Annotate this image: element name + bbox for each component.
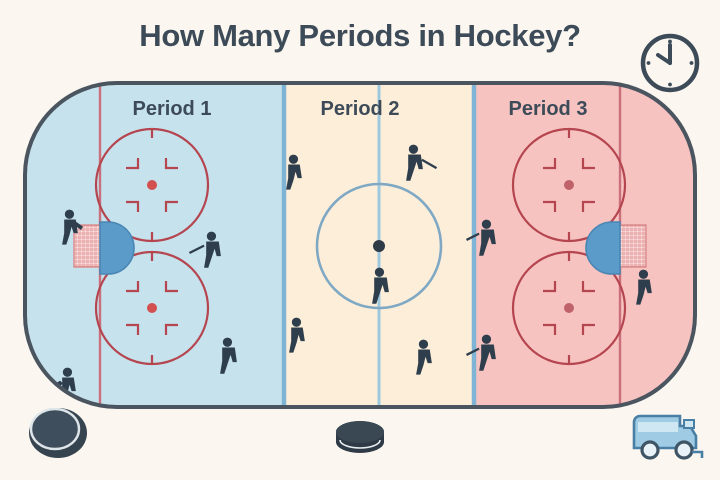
- hockey-puck-icon: [22, 400, 94, 462]
- page-title: How Many Periods in Hockey?: [0, 18, 720, 54]
- hockey-rink: [22, 80, 698, 410]
- zamboni-icon: [630, 408, 708, 464]
- center-ice-dot: [373, 240, 385, 252]
- hockey-puck-icon: [332, 418, 388, 460]
- zone-label-period-1: Period 1: [82, 98, 262, 121]
- zone-label-period-2: Period 2: [270, 98, 450, 121]
- zone-label-period-3: Period 3: [458, 98, 638, 121]
- infographic-canvas: How Many Periods in Hockey?: [0, 0, 720, 480]
- goal-right: [586, 222, 646, 274]
- goal-left: [74, 222, 134, 274]
